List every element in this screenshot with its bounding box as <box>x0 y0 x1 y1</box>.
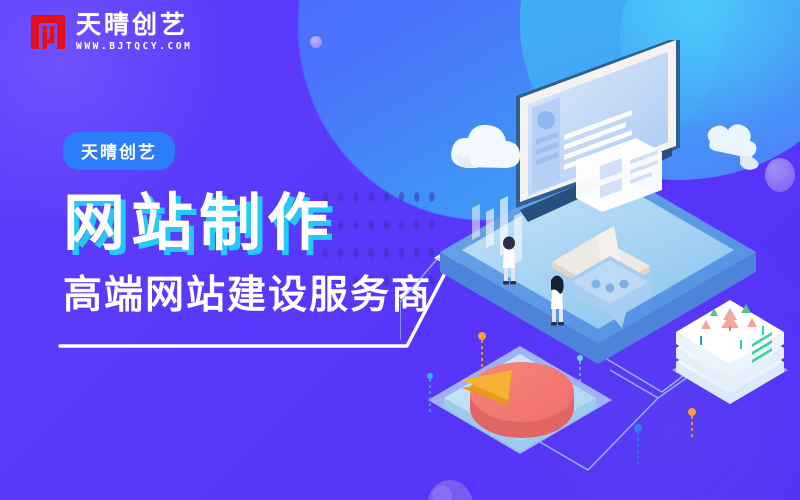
sphere-right <box>765 158 795 192</box>
brand-badge: 天晴创艺 <box>63 132 175 170</box>
promo-banner: 天晴创艺 WWW.BJTQCY.COM 天晴创艺 网站制作 高端网站建设服务商 <box>0 0 800 500</box>
sphere-bottom-left <box>427 480 473 500</box>
tqcy-square-logo-mark-icon <box>28 12 68 52</box>
sphere-top <box>310 36 322 48</box>
screen-avatar-circle <box>537 111 555 129</box>
screen-sidebar <box>532 97 560 192</box>
logo-company-name: 天晴创艺 <box>76 12 192 38</box>
cloud-left-icon <box>442 112 530 182</box>
logo-website-url: WWW.BJTQCY.COM <box>76 41 192 52</box>
isometric-server-stack <box>672 300 788 404</box>
brand-logo[interactable]: 天晴创艺 WWW.BJTQCY.COM <box>28 12 192 52</box>
isometric-illustration <box>400 40 800 500</box>
